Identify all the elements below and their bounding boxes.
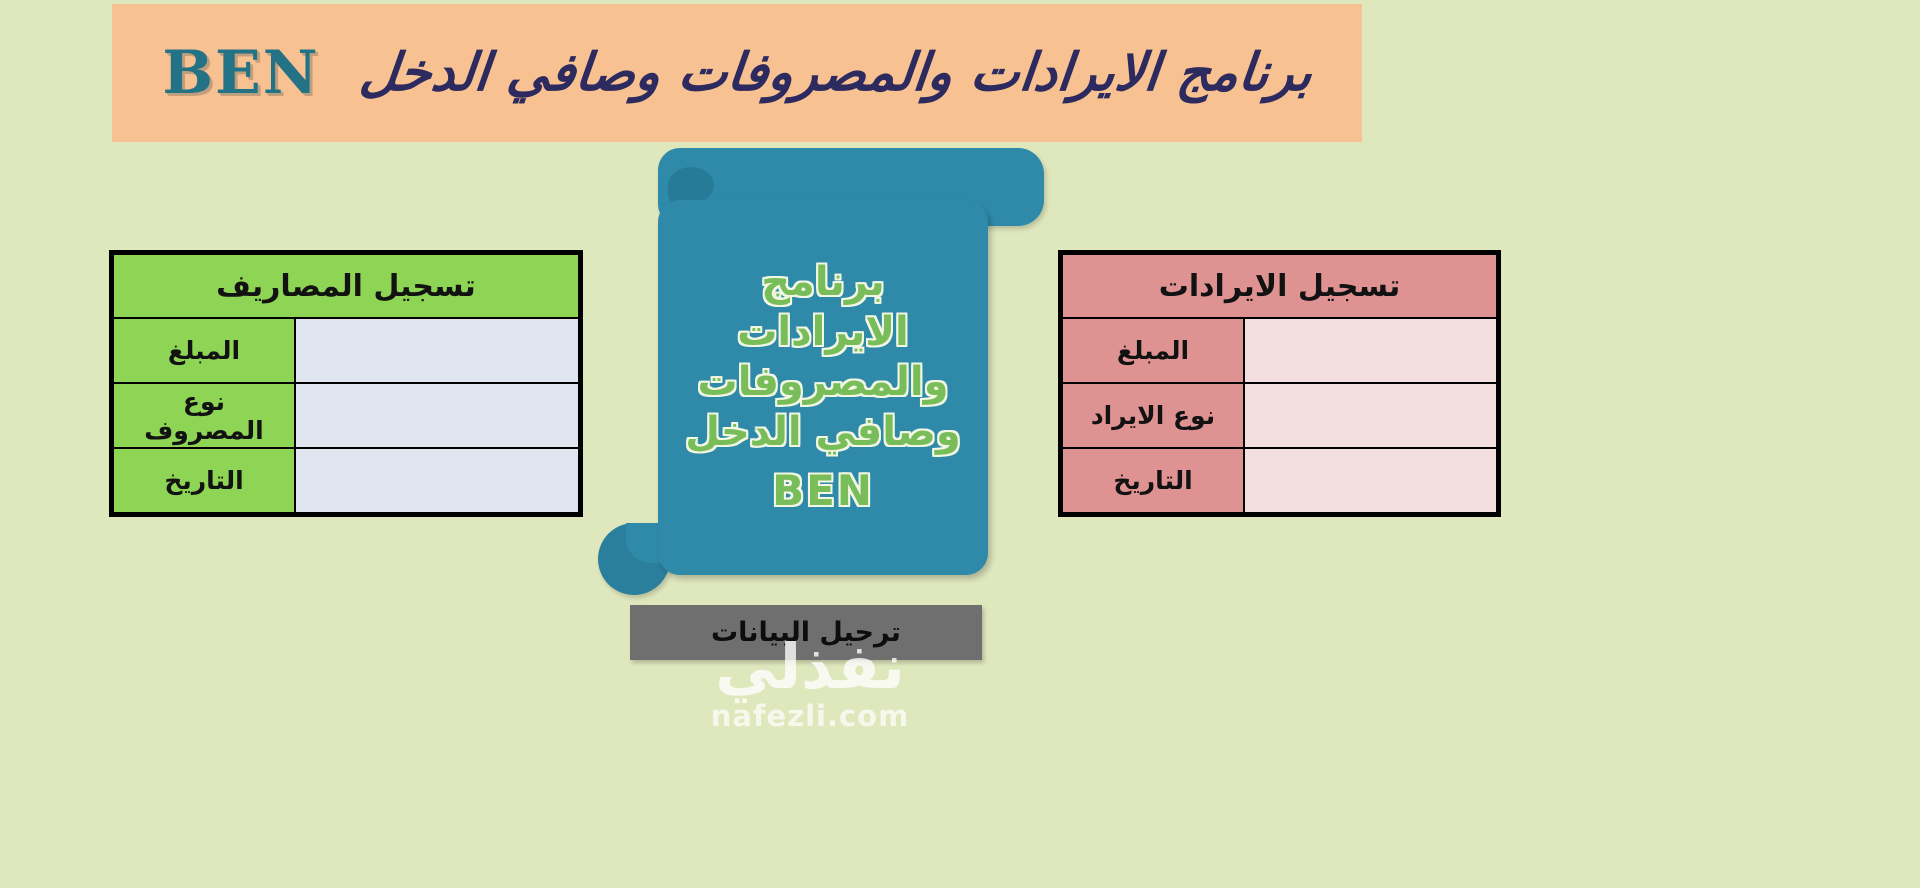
header-banner: برنامج الايرادات والمصروفات وصافي الدخل … bbox=[112, 4, 1362, 142]
revenues-type-input[interactable] bbox=[1244, 383, 1497, 448]
table-row: المبلغ bbox=[1062, 318, 1497, 383]
revenues-table-title: تسجيل الايرادات bbox=[1062, 254, 1497, 318]
table-row: التاريخ bbox=[113, 448, 579, 513]
revenues-amount-label: المبلغ bbox=[1062, 318, 1244, 383]
table-row: التاريخ bbox=[1062, 448, 1497, 513]
table-row: نوع الايراد bbox=[1062, 383, 1497, 448]
expenses-table-title: تسجيل المصاريف bbox=[113, 254, 579, 318]
table-row: المبلغ bbox=[113, 318, 579, 383]
scroll-line-3: والمصروفات bbox=[698, 359, 949, 405]
page-title: برنامج الايرادات والمصروفات وصافي الدخل bbox=[357, 47, 1314, 99]
revenues-date-label: التاريخ bbox=[1062, 448, 1244, 513]
scroll-line-2: الايرادات bbox=[737, 309, 909, 355]
scroll-logo: BEN bbox=[685, 465, 961, 518]
expenses-date-label: التاريخ bbox=[113, 448, 295, 513]
transfer-data-button[interactable]: ترحيل البيانات bbox=[630, 605, 982, 660]
table-header-row: تسجيل الايرادات bbox=[1062, 254, 1497, 318]
scroll-line-4: وصافي الدخل bbox=[685, 409, 961, 455]
expenses-type-input[interactable] bbox=[295, 383, 579, 448]
app-logo: BEN bbox=[162, 43, 319, 103]
revenues-type-label: نوع الايراد bbox=[1062, 383, 1244, 448]
expenses-entry-table: تسجيل المصاريف المبلغ نوع المصروف التاري… bbox=[109, 250, 583, 517]
watermark-english: nafezli.com bbox=[660, 698, 960, 736]
scroll-banner: برنامج الايرادات والمصروفات وصافي الدخل … bbox=[598, 145, 1048, 585]
table-row: نوع المصروف bbox=[113, 383, 579, 448]
scroll-banner-text: برنامج الايرادات والمصروفات وصافي الدخل … bbox=[677, 257, 969, 518]
revenues-entry-table: تسجيل الايرادات المبلغ نوع الايراد التار… bbox=[1058, 250, 1501, 517]
expenses-amount-label: المبلغ bbox=[113, 318, 295, 383]
expenses-amount-input[interactable] bbox=[295, 318, 579, 383]
revenues-amount-input[interactable] bbox=[1244, 318, 1497, 383]
scroll-body: برنامج الايرادات والمصروفات وصافي الدخل … bbox=[658, 200, 988, 575]
table-header-row: تسجيل المصاريف bbox=[113, 254, 579, 318]
scroll-line-1: برنامج bbox=[761, 259, 885, 305]
scroll-curl-top-icon bbox=[668, 167, 714, 203]
revenues-date-input[interactable] bbox=[1244, 448, 1497, 513]
expenses-date-input[interactable] bbox=[295, 448, 579, 513]
expenses-type-label: نوع المصروف bbox=[113, 383, 295, 448]
